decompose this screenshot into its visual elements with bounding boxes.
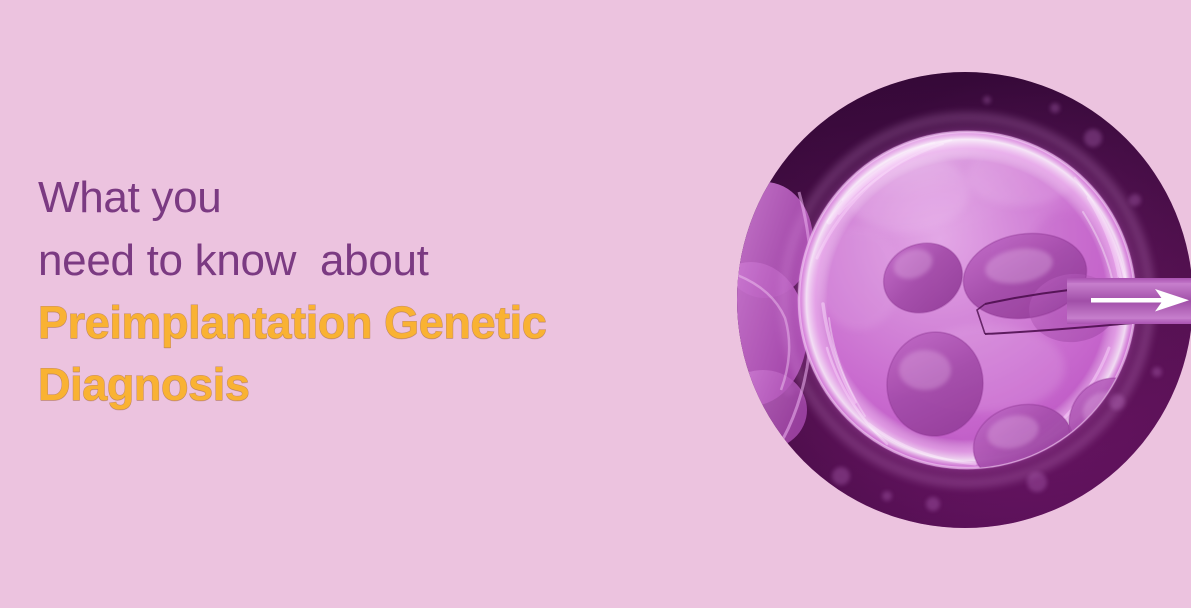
- embryo-illustration: [737, 72, 1191, 528]
- headline-line-4-accent: Diagnosis: [38, 354, 738, 416]
- arrow-shaft: [1091, 298, 1167, 303]
- banner-root: What you need to know about Preimplantat…: [0, 0, 1191, 608]
- headline-line-1: What you: [38, 166, 738, 229]
- headline-block: What you need to know about Preimplantat…: [38, 166, 738, 416]
- headline-line-2: need to know about: [38, 229, 738, 292]
- embryo-svg: [737, 72, 1191, 528]
- pipette-edge-bottom: [1067, 320, 1191, 325]
- headline-line-3-accent: Preimplantation Genetic: [38, 292, 738, 354]
- pipette-edge-top: [1067, 278, 1191, 283]
- micro-pipette: [1067, 278, 1191, 324]
